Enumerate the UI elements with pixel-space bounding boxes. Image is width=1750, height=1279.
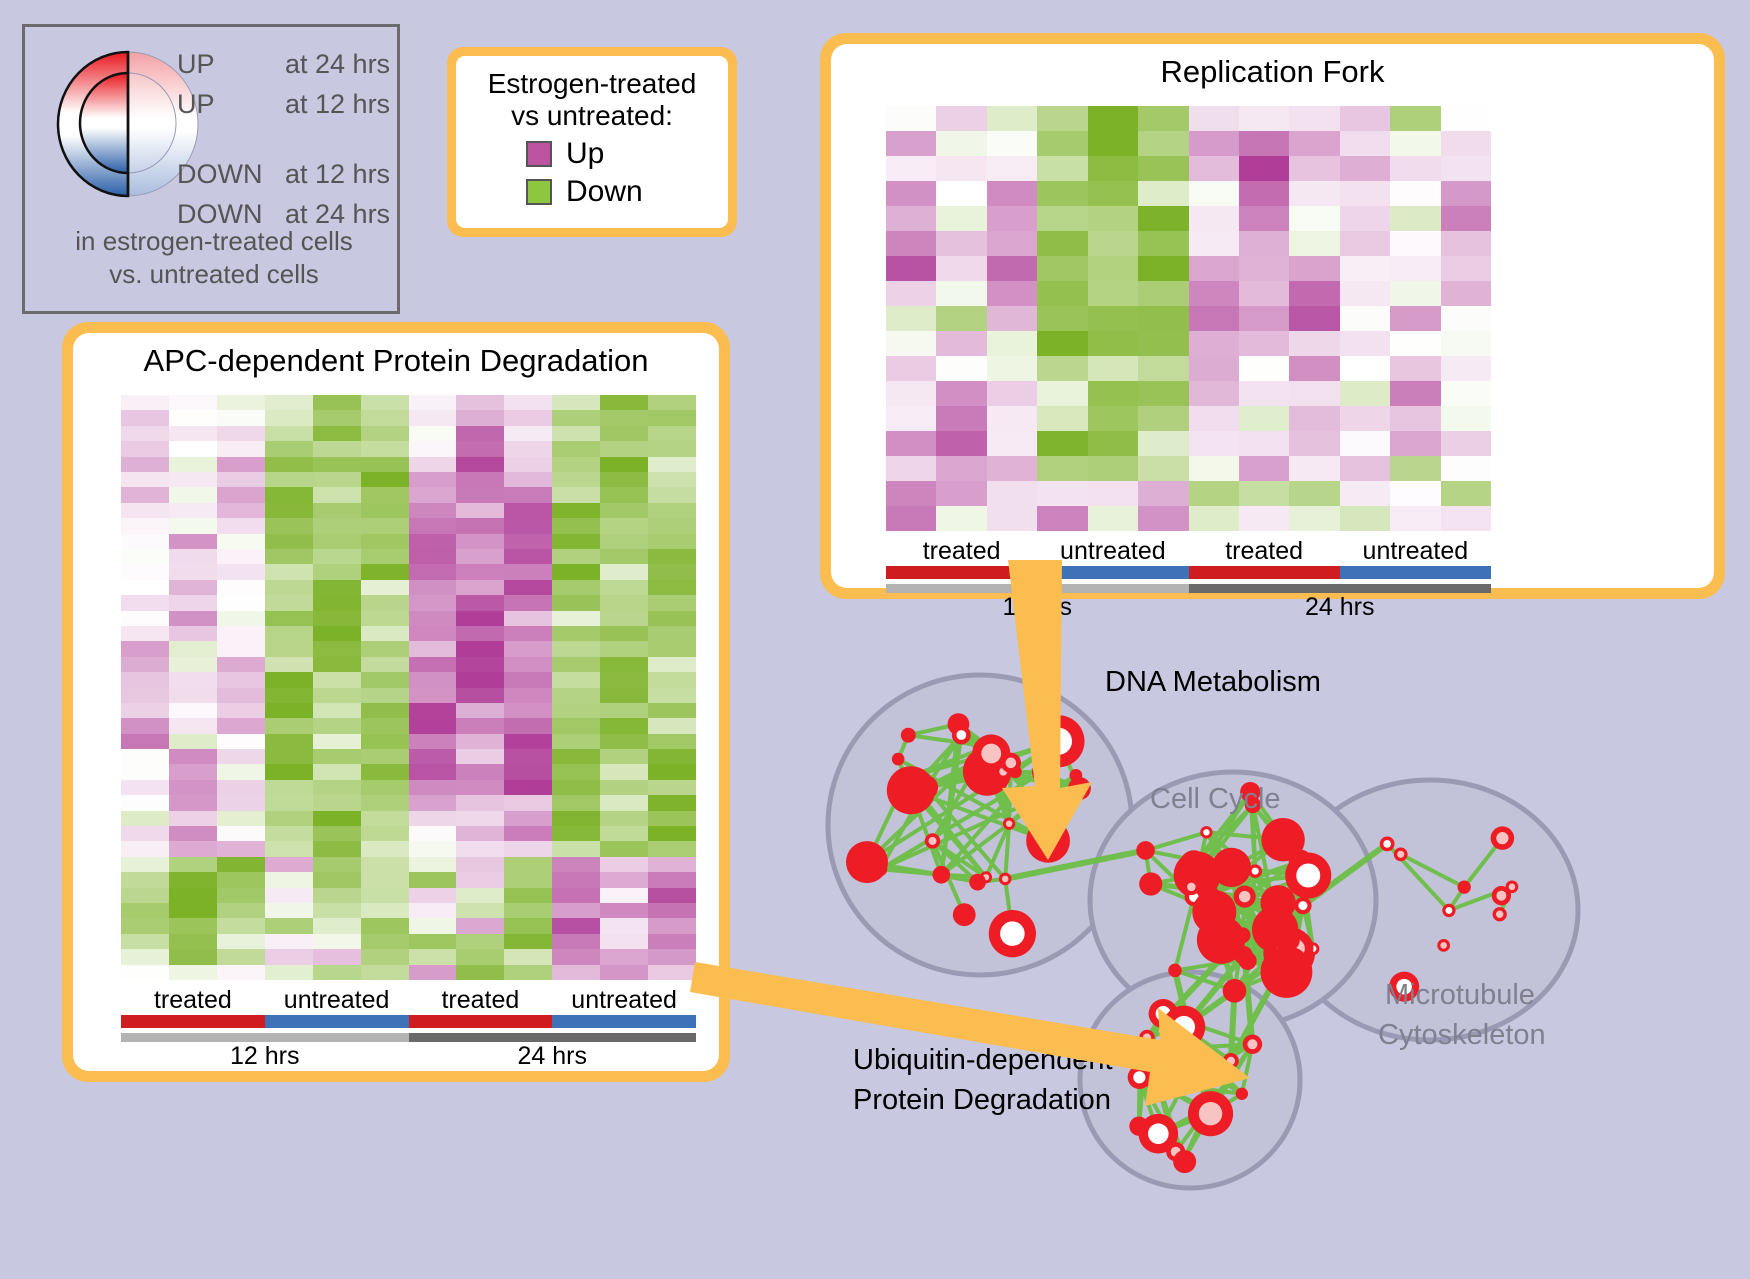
colorwheel-direction: DOWN [177,159,285,190]
heatmap-cell [409,487,457,502]
heatmap-cell [1289,331,1339,356]
colorwheel-caption: in estrogen-treated cells vs. untreated … [25,225,403,292]
heatmap-cell [169,580,217,595]
heatmap-cell [456,518,504,533]
heatmap-cell [217,703,265,718]
panel-replication-fork: Replication Fork treateduntreatedtreated… [820,33,1725,599]
heatmap-cell [504,426,552,441]
network-node[interactable] [932,866,950,884]
heatmap-cell [456,395,504,410]
heatmap-cell [313,410,361,425]
heatmap-cell [504,903,552,918]
heatmap-cell [361,857,409,872]
heatmap-cell [265,441,313,456]
heatmap-cell [1037,306,1087,331]
node-outer [873,862,887,876]
heatmap-cell [409,857,457,872]
network-node[interactable] [892,753,905,766]
heatmap-cell [409,426,457,441]
heatmap-cell [600,857,648,872]
condition-color-bar [121,1015,696,1028]
heatmap-cell [1390,456,1440,481]
heatmap-cell [169,841,217,856]
heatmap-cell [648,611,696,626]
heatmap-cell [1239,181,1289,206]
heatmap-cell [1441,131,1491,156]
heatmap-cell [1239,331,1289,356]
heatmap-cell [265,641,313,656]
heatmap-cell [313,734,361,749]
heatmap-cell [1289,381,1339,406]
colorwheel-caption-line1: in estrogen-treated cells [25,225,403,258]
heatmap-cell [1088,481,1138,506]
heatmap-cell [1138,431,1188,456]
heatmap-cell [313,657,361,672]
heatmap-cell [217,457,265,472]
heatmap-cell [313,749,361,764]
heatmap-cell [936,206,986,231]
heatmap-cell [169,780,217,795]
heatmap-cell [313,672,361,687]
heatmap-cell [648,426,696,441]
heatmap-cell [936,356,986,381]
heatmap-cell [169,426,217,441]
heatmap-cell [648,595,696,610]
heatmap-cell [600,395,648,410]
colorwheel-direction: UP [177,89,285,120]
heatmap-cell [217,503,265,518]
network-node[interactable] [1270,895,1291,916]
node-outer [846,841,888,883]
updown-legend-title: Estrogen-treated vs untreated: [470,68,714,133]
heatmap-cell [600,965,648,980]
heatmap-cell [313,949,361,964]
network-node[interactable] [969,874,986,891]
heatmap-cell [169,518,217,533]
heatmap-cell [361,457,409,472]
heatmap-cell [217,672,265,687]
group-label: treated [1189,537,1340,566]
heatmap-cell [217,965,265,980]
network-node[interactable] [1139,1114,1179,1154]
heatmap-cell [552,457,600,472]
heatmap-cell [217,626,265,641]
heatmap-cell [936,481,986,506]
heatmap-cell [456,918,504,933]
heatmap-cell [361,564,409,579]
heatmap-cell [121,410,169,425]
condition-bar-segment [1340,566,1491,579]
heatmap-cell [265,764,313,779]
heatmap-cell [456,611,504,626]
node-outer [1139,872,1162,895]
network-node[interactable] [901,728,916,743]
heatmap-cell [361,841,409,856]
heatmap-cell [600,518,648,533]
heatmap-cell [1037,481,1087,506]
node-core [1383,840,1391,848]
heatmap-cell [1289,306,1339,331]
heatmap-cell [265,564,313,579]
heatmap-cell [121,703,169,718]
heatmap-cell [600,718,648,733]
heatmap-cell [313,626,361,641]
heatmap-cell [361,872,409,887]
heatmap-cell [648,749,696,764]
heatmap-cell [987,356,1037,381]
heatmap-cell [552,688,600,703]
heatmap-cell [600,457,648,472]
heatmap-cell [1138,256,1188,281]
heatmap-cell [217,780,265,795]
heatmap-cell [121,903,169,918]
heatmap-cell [313,688,361,703]
heatmap-cell [1088,206,1138,231]
heatmap-cell [552,749,600,764]
heatmap-cell [169,672,217,687]
network-node[interactable] [1183,879,1199,895]
heatmap-cell [648,487,696,502]
heatmap-cell [1289,181,1339,206]
heatmap-cell [936,281,986,306]
heatmap-cell [313,457,361,472]
heatmap-cell [169,549,217,564]
heatmap-cell [1340,106,1390,131]
network-node[interactable] [1234,886,1256,908]
heatmap-cell [1441,481,1491,506]
heatmap-cell [169,611,217,626]
node-core [1445,907,1452,914]
heatmap-cell [217,441,265,456]
heatmap-cell [313,841,361,856]
panel-title: APC-dependent Protein Degradation [73,333,719,379]
heatmap-cell [169,718,217,733]
heatmap-cell [409,441,457,456]
network-node[interactable] [1491,826,1515,850]
heatmap-cell [1138,306,1188,331]
heatmap-cell [265,811,313,826]
heatmap-cell [1289,231,1339,256]
network-node[interactable] [1173,1150,1196,1173]
heatmap-cell [313,934,361,949]
heatmap-cell [552,826,600,841]
network-node[interactable] [925,833,940,848]
heatmap-cell [1239,131,1289,156]
network-node[interactable] [1139,872,1162,895]
heatmap-cell [600,703,648,718]
heatmap-cell [1390,481,1440,506]
heatmap-cell [1441,456,1491,481]
node-outer [1180,850,1208,878]
heatmap-cell [1037,406,1087,431]
network-node[interactable] [1437,939,1450,952]
network-node[interactable] [1442,904,1455,917]
heatmap-cell [552,841,600,856]
heatmap-cell [456,626,504,641]
heatmap-cell [1390,181,1440,206]
heatmap-cell [1088,456,1138,481]
heatmap-cell [265,949,313,964]
network-node[interactable] [1394,847,1408,861]
heatmap-cell [217,564,265,579]
heatmap-cell [265,410,313,425]
heatmap-cell [1088,156,1138,181]
heatmap-cell [552,811,600,826]
heatmap-cell [1340,181,1390,206]
network-node[interactable] [1212,848,1251,887]
heatmap-cell [1088,431,1138,456]
heatmap-cell [361,811,409,826]
heatmap-cell [1289,406,1339,431]
heatmap-cell [504,872,552,887]
heatmap-cell [1239,306,1289,331]
heatmap-cell [552,472,600,487]
heatmap-cell [1390,106,1440,131]
node-core [1239,891,1250,902]
heatmap-cell [552,949,600,964]
heatmap-cell [361,472,409,487]
network-node[interactable] [1380,837,1395,852]
node-outer [932,866,950,884]
heatmap-cell [456,888,504,903]
heatmap-cell [552,857,600,872]
heatmap-cell [456,749,504,764]
heatmap-cell [313,518,361,533]
heatmap-cell [265,426,313,441]
heatmap-cell [987,206,1037,231]
heatmap-cell [1239,156,1289,181]
heatmap-cell [361,688,409,703]
heatmap-cell [1037,431,1087,456]
heatmap-cell [1289,456,1339,481]
heatmap-cell [265,534,313,549]
heatmap-cell [217,641,265,656]
heatmap-cell [1239,456,1289,481]
heatmap-cell [265,657,313,672]
heatmap-cell [217,595,265,610]
heatmap-cell [936,381,986,406]
network-node[interactable] [999,873,1012,886]
heatmap-cell [409,734,457,749]
heatmap-cell [121,472,169,487]
heatmap-cell [1138,381,1188,406]
heatmap-cell [600,426,648,441]
heatmap-cell [886,431,936,456]
heatmap-cell [1239,256,1289,281]
heatmap-cell [504,580,552,595]
node-core [1397,851,1404,858]
heatmap-cell [217,426,265,441]
heatmap-cell [504,795,552,810]
colorwheel-time: at 12 hrs [285,89,390,120]
heatmap-cell [121,580,169,595]
heatmap-cell [1189,381,1239,406]
heatmap-cell [1390,231,1440,256]
heatmap-cell [648,734,696,749]
group-label: treated [409,986,553,1015]
heatmap-cell [121,872,169,887]
heatmap-cell [600,934,648,949]
heatmap-cell [409,534,457,549]
heatmap-cell [121,595,169,610]
heatmap-cell [456,672,504,687]
heatmap-cell [265,795,313,810]
network-node[interactable] [1492,886,1511,905]
heatmap-cell [265,749,313,764]
node-core [1496,911,1503,918]
colorwheel-row: UP at 24 hrs [177,49,397,89]
network-node[interactable] [873,862,887,876]
heatmap-cell [1441,431,1491,456]
heatmap-cell [600,472,648,487]
heatmap-cell [169,657,217,672]
network-node[interactable] [1200,826,1212,838]
heatmap-cell [265,626,313,641]
heatmap-cell [409,580,457,595]
heatmap-cell [169,888,217,903]
network-node[interactable] [846,841,888,883]
heatmap-cell [409,872,457,887]
heatmap-cell [361,903,409,918]
heatmap-cell [600,872,648,887]
heatmap-cell [1390,206,1440,231]
heatmap-cell [1138,181,1188,206]
heatmap-cell [456,549,504,564]
heatmap-cell [600,734,648,749]
node-outer [969,874,986,891]
heatmap-cell [409,395,457,410]
heatmap-cell [1138,331,1188,356]
network-node[interactable] [953,903,976,926]
heatmap-cell [552,611,600,626]
heatmap-cell [552,872,600,887]
group-label: untreated [1340,537,1491,566]
heatmap-cell [169,534,217,549]
heatmap-cell [169,795,217,810]
heatmap-cell [313,811,361,826]
heatmap-cell [1441,181,1491,206]
heatmap-cell [886,331,936,356]
heatmap-cell [886,131,936,156]
heatmap-cell [456,503,504,518]
heatmap-cell [1088,356,1138,381]
node-core [1296,864,1320,888]
heatmap-cell [648,718,696,733]
timepoint-color-bar [121,1033,696,1042]
heatmap-cell [409,764,457,779]
heatmap-cell [456,734,504,749]
heatmap-cell [121,749,169,764]
heatmap-cell [504,703,552,718]
heatmap-cell [217,888,265,903]
heatmap-cell [1037,106,1087,131]
heatmap-cell [1189,431,1239,456]
heatmap-cell [121,487,169,502]
heatmap-cell [936,306,986,331]
heatmap-cell [361,426,409,441]
heatmap-cell [409,457,457,472]
heatmap-cell [456,795,504,810]
heatmap-cell [1340,231,1390,256]
heatmap-cell [121,641,169,656]
heatmap-cell [504,487,552,502]
heatmap-cell [1289,156,1339,181]
heatmap-cell [504,410,552,425]
heatmap-cell [600,595,648,610]
updown-legend-box: Estrogen-treated vs untreated: Up Down [447,47,737,237]
heatmap-cell [456,564,504,579]
heatmap-cell [121,611,169,626]
network-node[interactable] [1294,897,1311,914]
node-core [1496,891,1506,901]
heatmap-cell [361,503,409,518]
network-node[interactable] [899,770,915,786]
heatmap-cell [648,534,696,549]
heatmap-cell [217,903,265,918]
heatmap-cell [504,503,552,518]
node-outer [892,753,905,766]
heatmap-cell [313,487,361,502]
timepoint-label: 12 hrs [121,1042,409,1071]
heatmap-cell [361,703,409,718]
heatmap-cell [361,780,409,795]
heatmap-cell [456,949,504,964]
heatmap-cell [361,549,409,564]
heatmap-cell [313,503,361,518]
heatmap-cell [1037,156,1087,181]
heatmap-cell [409,888,457,903]
heatmap-cell [1239,506,1289,531]
heatmap-cell [1138,206,1188,231]
heatmap-cell [1239,281,1289,306]
network-node[interactable] [1493,907,1507,921]
spacer [177,129,397,159]
heatmap-cell [936,106,986,131]
node-core [929,837,937,845]
network-node[interactable] [1180,850,1208,878]
heatmap-cell [169,965,217,980]
heatmap-cell [552,795,600,810]
node-core [1002,876,1009,883]
heatmap-cell [600,441,648,456]
heatmap-cell [648,580,696,595]
heatmap-cell [409,611,457,626]
network-node[interactable] [1285,852,1331,898]
heatmap-cell [313,564,361,579]
heatmap-cell [217,395,265,410]
heatmap-cell [552,410,600,425]
heatmap-cell [121,780,169,795]
heatmap-cell [456,703,504,718]
heatmap-cell [1340,306,1390,331]
axis-apc: treateduntreatedtreateduntreated 12 hrs2… [121,986,696,1071]
heatmap-cell [313,795,361,810]
heatmap-cell [1189,406,1239,431]
heatmap-cell [169,595,217,610]
heatmap-cell [504,395,552,410]
heatmap-cell [1340,406,1390,431]
heatmap-cell [1189,281,1239,306]
heatmap-cell [1289,356,1339,381]
heatmap-cell [1441,156,1491,181]
heatmap-cell [1138,481,1188,506]
network-node[interactable] [1458,880,1471,893]
heatmap-replication-fork [886,106,1491,531]
heatmap-cell [217,934,265,949]
heatmap-cell [217,410,265,425]
heatmap-cell [456,934,504,949]
heatmap-cell [265,503,313,518]
